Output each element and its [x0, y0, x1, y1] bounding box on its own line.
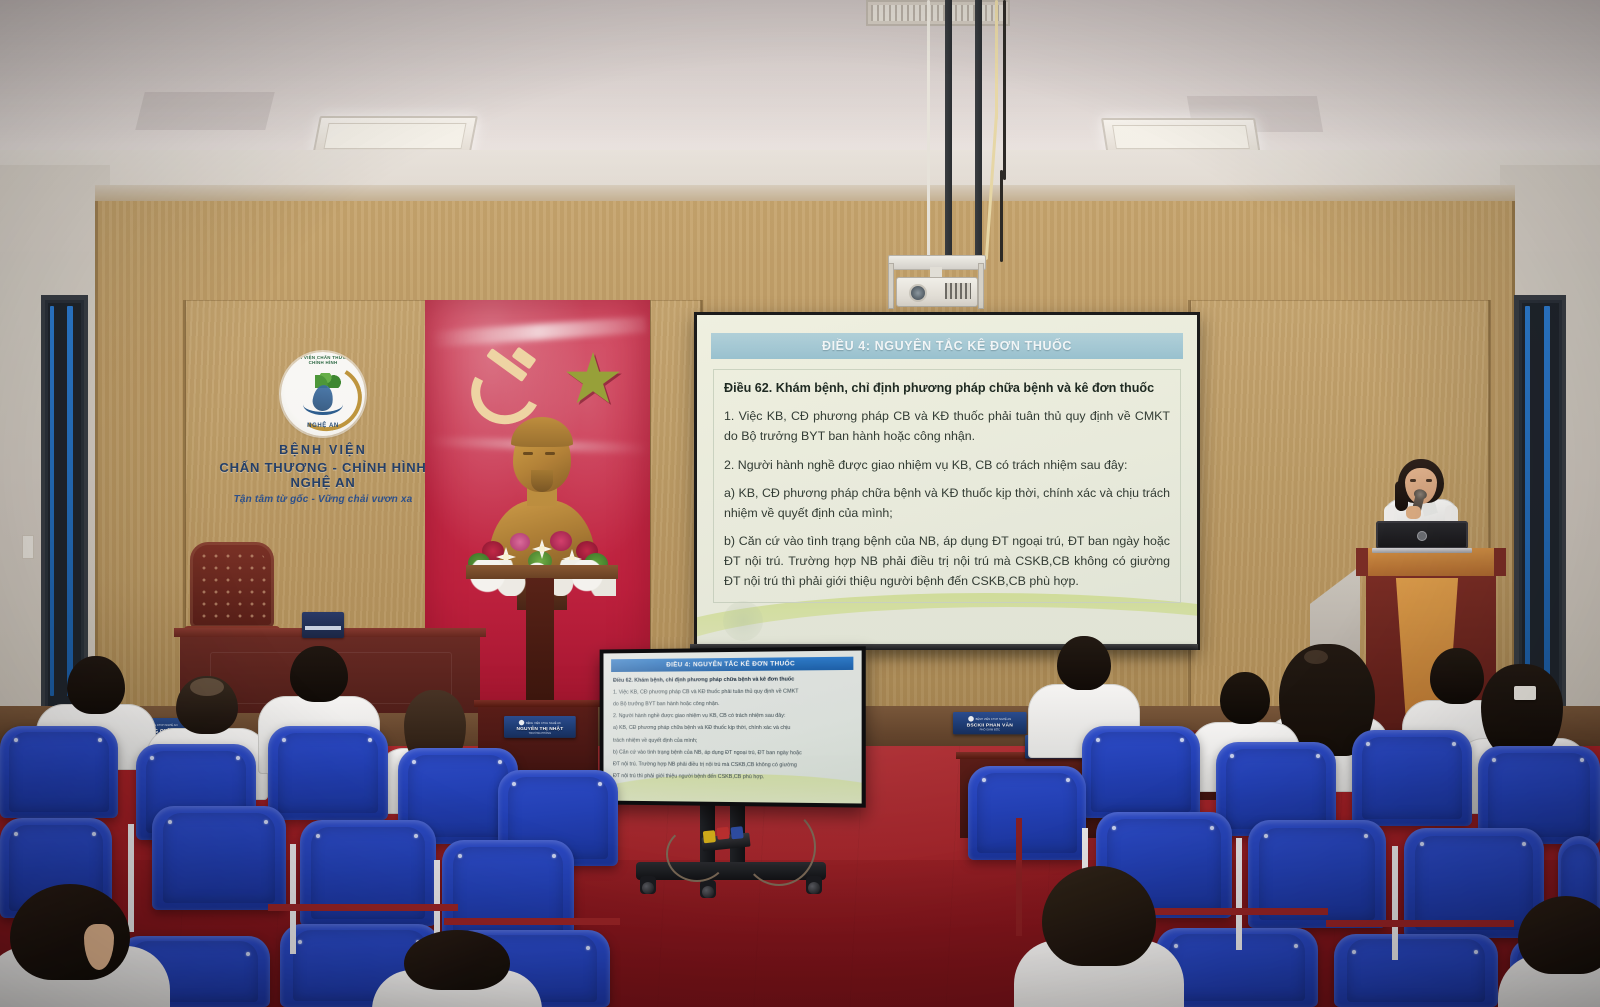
tv-cable: [666, 826, 728, 882]
wall-trim: [95, 185, 1515, 201]
hospital-tagline: Tận tâm từ gốc - Vững chải vươn xa: [203, 494, 443, 505]
audience-chair[interactable]: [268, 726, 388, 820]
panel-seam: [95, 185, 98, 710]
slide-lead-line: Điều 62. Khám bệnh, chỉ định phương pháp…: [724, 378, 1170, 398]
chair-leg: [290, 844, 296, 954]
chair-rail: [268, 904, 458, 911]
door-left[interactable]: [45, 300, 84, 712]
chair-leg: [1392, 846, 1398, 960]
front-row-person: [1516, 896, 1600, 1007]
tv-screen: ĐIỀU 4: NGUYÊN TẮC KÊ ĐƠN THUỐC Điều 62.…: [603, 650, 861, 803]
front-row-person: [0, 884, 170, 1007]
logo-bottom-text: NGHỆ AN: [281, 423, 365, 429]
hospital-name-line1: BỆNH VIỆN: [203, 443, 443, 457]
ceiling-vent: [866, 0, 1010, 26]
audience-chair[interactable]: [152, 806, 286, 910]
door-right[interactable]: [1519, 300, 1562, 712]
chair-rail: [1326, 920, 1514, 927]
hospital-logo-icon: BỆNH VIỆN CHẤN THƯƠNG - CHỈNH HÌNH NGHỆ …: [281, 352, 365, 436]
laptop-logo-icon: [1417, 531, 1427, 541]
front-row-person: [382, 930, 532, 1007]
ceiling-tile: [135, 92, 274, 130]
slide-paragraph-3: a) KB, CĐ phương pháp chữa bệnh và KĐ th…: [724, 483, 1170, 523]
audience-chair[interactable]: [442, 840, 574, 944]
chair-rail: [444, 918, 620, 925]
light-switch[interactable]: [22, 535, 34, 559]
ceiling-projector: [886, 255, 986, 307]
presenter-hand: [1406, 506, 1421, 519]
slide-body: Điều 62. Khám bệnh, chỉ định phương pháp…: [713, 369, 1181, 603]
audience-chair[interactable]: [968, 766, 1086, 860]
slide-paragraph-2: 2. Người hành nghề được giao nhiệm vụ KB…: [724, 455, 1170, 475]
projector-lens-icon: [909, 284, 927, 302]
chair-leg: [1236, 838, 1242, 950]
slide-content: ĐIỀU 4: NGUYÊN TẮC KÊ ĐƠN THUỐC Điều 62.…: [697, 315, 1197, 647]
logo-ring-text: BỆNH VIỆN CHẤN THƯƠNG - CHỈNH HÌNH: [281, 355, 365, 365]
chair-leg: [1016, 818, 1022, 936]
audience-chair[interactable]: [1352, 730, 1472, 826]
audience-chair[interactable]: [1334, 934, 1498, 1007]
tv-cable: [742, 808, 816, 886]
audience-chair[interactable]: [1082, 726, 1200, 818]
flower-stand: [466, 565, 618, 579]
projector-cable: [995, 0, 998, 120]
nameplate: BỆNH VIỆN CTCH NGHỆ AN BSCKII PHAN VĂN P…: [953, 712, 1027, 734]
podium-laptop[interactable]: [1376, 521, 1468, 553]
flower-pedestal: [526, 578, 554, 708]
slide-paragraph-4: b) Căn cứ vào tình trạng bệnh của NB, áp…: [724, 531, 1170, 591]
hospital-name-line2: CHẤN THƯƠNG - CHỈNH HÌNH NGHỆ AN: [203, 460, 443, 490]
projector-cable: [1000, 170, 1003, 262]
desk-device: [302, 612, 344, 638]
hospital-sign: BỆNH VIỆN CHẤN THƯƠNG - CHỈNH HÌNH NGHỆ …: [203, 352, 443, 502]
projector-cable: [927, 0, 930, 258]
slide-header-band: ĐIỀU 4: NGUYÊN TẮC KÊ ĐƠN THUỐC: [711, 333, 1183, 359]
audience-chair[interactable]: [0, 726, 118, 818]
tv-display: ĐIỀU 4: NGUYÊN TẮC KÊ ĐƠN THUỐC Điều 62.…: [600, 646, 866, 807]
slide-paragraph-1: 1. Việc KB, CĐ phương pháp CB và KĐ thuố…: [724, 406, 1170, 446]
slide-title: ĐIỀU 4: NGUYÊN TẮC KÊ ĐƠN THUỐC: [822, 339, 1072, 353]
conference-room-photo: BỆNH VIỆN CHẤN THƯƠNG - CHỈNH HÌNH NGHỆ …: [0, 0, 1600, 1007]
slide-watermark: [723, 601, 763, 641]
projector-cable: [1003, 0, 1006, 180]
projection-screen: ĐIỀU 4: NGUYÊN TẮC KÊ ĐƠN THUỐC Điều 62.…: [694, 312, 1200, 650]
front-row-person: [1026, 866, 1172, 1007]
hammer-and-sickle-icon: [469, 352, 541, 414]
nameplate: BỆNH VIỆN CTCH NGHỆ AN NGUYỄN THỊ NHẬT T…: [504, 716, 576, 738]
